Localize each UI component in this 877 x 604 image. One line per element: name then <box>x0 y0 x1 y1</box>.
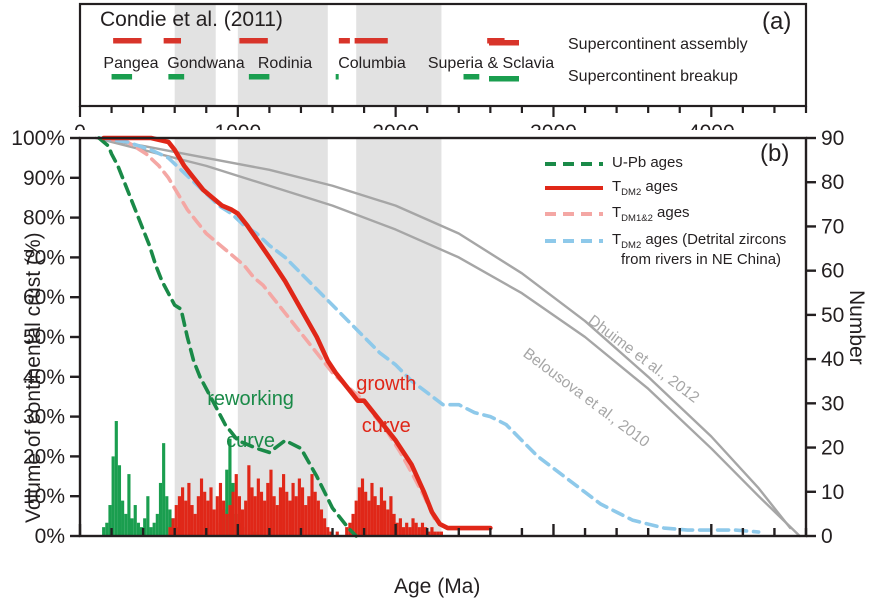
histogram-bar <box>260 492 263 536</box>
assembly-bar-3 <box>355 38 388 44</box>
histogram-bar <box>118 465 121 536</box>
histogram-bar <box>430 527 433 536</box>
histogram-bar <box>399 518 402 536</box>
panel-b-legend: U-Pb agesTDM2 agesTDM1&2 agesTDM2 ages (… <box>545 155 805 275</box>
legend-item-0: U-Pb ages <box>545 155 805 172</box>
legend-label-1: TDM2 ages <box>612 179 678 199</box>
x-tick-3000: 3000 <box>530 549 577 550</box>
histogram-bar <box>389 496 392 536</box>
supercontinent-label-gondwana: Gondwana <box>167 55 244 72</box>
y-right-tick-60: 60 <box>821 260 844 283</box>
histogram-bar <box>216 496 219 536</box>
legend-swatch-3 <box>545 239 603 243</box>
panel-a-xtick-0: 0 <box>74 121 86 130</box>
histogram-bar <box>181 487 184 536</box>
histogram-bar <box>269 470 272 536</box>
histogram-bar <box>411 518 414 536</box>
histogram-bar <box>244 501 247 536</box>
histogram-bar <box>105 523 108 536</box>
histogram-bar <box>304 505 307 536</box>
x-tick-0: 0 <box>74 549 86 550</box>
y-right-tick-30: 30 <box>821 392 844 415</box>
assembly-bar-3 <box>339 38 350 44</box>
panel-a-xtick-1000: 1000 <box>214 121 261 130</box>
histogram-bar <box>408 527 411 536</box>
histogram-bar <box>326 527 329 536</box>
histogram-bar <box>295 496 298 536</box>
histogram-bar <box>127 474 130 536</box>
histogram-bar <box>184 501 187 536</box>
histogram-bar <box>137 523 140 536</box>
histogram-bar <box>254 496 257 536</box>
histogram-bar <box>112 456 115 536</box>
supercontinent-label-superia-sclavia: Superia & Sclavia <box>428 55 554 72</box>
y-right-tick-50: 50 <box>821 304 844 327</box>
y-left-tick-90: 90% <box>23 167 65 190</box>
histogram-bar <box>402 527 405 536</box>
histogram-bar <box>273 496 276 536</box>
y-axis-left-title: Volume of continental crust (%) <box>22 232 46 523</box>
histogram-bar <box>355 501 358 536</box>
histogram-bar <box>115 421 118 536</box>
histogram-bar <box>282 474 285 536</box>
supercontinent-label-pangea: Pangea <box>103 55 158 72</box>
annotation-reworking-curve: reworking curve <box>185 368 294 473</box>
figure-root: PangeaGondwanaRodiniaColumbiaSuperia & S… <box>0 0 877 604</box>
histogram-bar <box>263 501 266 536</box>
histogram-bar <box>146 496 149 536</box>
y-axis-right-title: Number <box>844 290 868 365</box>
histogram-bar <box>213 509 216 536</box>
y-right-tick-20: 20 <box>821 437 844 460</box>
histogram-bar <box>374 496 377 536</box>
histogram-bar <box>323 518 326 536</box>
y-left-tick-0: 0% <box>35 525 65 548</box>
histogram-bar <box>121 501 124 536</box>
annotation-growth-curve: growth curve <box>334 353 416 458</box>
histogram-bar <box>276 505 279 536</box>
assembly-bar-0 <box>113 38 141 44</box>
histogram-bar <box>288 501 291 536</box>
histogram-bar <box>156 514 159 536</box>
histogram-bar <box>405 523 408 536</box>
histogram-bar <box>421 523 424 536</box>
breakup-bar-4 <box>464 74 480 80</box>
histogram-bar <box>247 465 250 536</box>
histogram-bar <box>219 483 222 536</box>
histogram-bar <box>225 514 228 536</box>
histogram-bar <box>200 479 203 536</box>
histogram-bar <box>418 527 421 536</box>
panel-a-xtick-3000: 3000 <box>530 121 577 130</box>
x-tick-1000: 1000 <box>214 549 261 550</box>
x-axis-title: Age (Ma) <box>394 575 480 599</box>
breakup-bar-0 <box>112 74 133 80</box>
histogram-bar <box>241 509 244 536</box>
panel-a-xtick-4000: 4000 <box>688 121 735 130</box>
histogram-bar <box>320 509 323 536</box>
y-left-tick-80: 80% <box>23 207 65 230</box>
histogram-bar <box>370 483 373 536</box>
histogram-bar <box>134 505 137 536</box>
histogram-bar <box>291 483 294 536</box>
histogram-bar <box>358 487 361 536</box>
breakup-bar-3 <box>336 74 339 80</box>
histogram-bar <box>317 501 320 536</box>
histogram-bar <box>307 496 310 536</box>
histogram-bar <box>367 501 370 536</box>
histogram-bar <box>232 492 235 536</box>
annotation-reworking-line1: reworking <box>207 388 294 410</box>
histogram-bar <box>153 523 156 536</box>
histogram-bar <box>194 514 197 536</box>
legend-swatch-0 <box>545 162 603 166</box>
histogram-bar <box>383 501 386 536</box>
histogram-bar <box>168 527 171 536</box>
histogram-bar <box>165 496 168 536</box>
histogram-bar <box>178 496 181 536</box>
histogram-bar <box>228 505 231 536</box>
histogram-bar <box>298 479 301 536</box>
x-tick-2000: 2000 <box>372 549 419 550</box>
annotation-growth-line1: growth <box>356 373 416 395</box>
panel-a-xtick-2000: 2000 <box>372 121 419 130</box>
legend-supercontinent-breakup-label: Supercontinent breakup <box>568 68 738 86</box>
histogram-bar <box>415 523 418 536</box>
histogram-bar <box>250 487 253 536</box>
assembly-bar-2 <box>239 38 267 44</box>
histogram-bar <box>345 527 348 536</box>
histogram-bar <box>162 443 165 536</box>
legend-item-1: TDM2 ages <box>545 179 805 199</box>
legend-item-3: TDM2 ages (Detrital zirconsfrom rivers i… <box>545 232 805 268</box>
histogram-bar <box>285 492 288 536</box>
histogram-bar <box>377 505 380 536</box>
y-right-tick-70: 70 <box>821 215 844 238</box>
histogram-bar <box>380 487 383 536</box>
y-left-tick-100: 100% <box>11 130 65 150</box>
histogram-bar <box>222 501 225 536</box>
histogram-bar <box>159 483 162 536</box>
annotation-growth-line2: curve <box>362 415 411 437</box>
y-right-tick-40: 40 <box>821 348 844 371</box>
legend-label-0: U-Pb ages <box>612 155 683 172</box>
histogram-bar <box>190 505 193 536</box>
breakup-bar-2 <box>249 74 270 80</box>
histogram-bar <box>102 527 105 536</box>
histogram-bar <box>310 474 313 536</box>
y-right-tick-0: 0 <box>821 525 833 548</box>
histogram-bar <box>361 479 364 536</box>
histogram-bar <box>257 479 260 536</box>
x-tick-4000: 4000 <box>688 549 735 550</box>
legend-label-3: TDM2 ages (Detrital zirconsfrom rivers i… <box>612 232 786 268</box>
histogram-bar <box>187 483 190 536</box>
y-right-tick-10: 10 <box>821 481 844 504</box>
legend-assembly-swatch <box>489 40 519 46</box>
histogram-bar <box>149 527 152 536</box>
histogram-bar <box>386 509 389 536</box>
breakup-bar-1 <box>168 74 184 80</box>
y-right-tick-80: 80 <box>821 171 844 194</box>
histogram-bar <box>131 518 134 536</box>
y-right-tick-90: 90 <box>821 130 844 150</box>
legend-swatch-1 <box>545 186 603 191</box>
legend-supercontinent-assembly-label: Supercontinent assembly <box>568 36 748 54</box>
panel-a-label: (a) <box>762 8 791 36</box>
histogram-bar <box>124 514 127 536</box>
supercontinent-label-columbia: Columbia <box>338 55 406 72</box>
histogram-bar <box>279 487 282 536</box>
histogram-bar <box>209 487 212 536</box>
condie-citation-label: Condie et al. (2011) <box>100 8 283 32</box>
legend-swatch-2 <box>545 212 603 216</box>
histogram-bar <box>314 492 317 536</box>
supercontinent-label-rodinia: Rodinia <box>258 55 312 72</box>
annotation-reworking-line2: curve <box>226 430 275 452</box>
legend-label-2: TDM1&2 ages <box>612 205 690 225</box>
histogram-bar <box>197 496 200 536</box>
legend-item-2: TDM1&2 ages <box>545 205 805 225</box>
assembly-bar-1 <box>164 38 181 44</box>
legend-breakup-swatch <box>489 76 519 82</box>
